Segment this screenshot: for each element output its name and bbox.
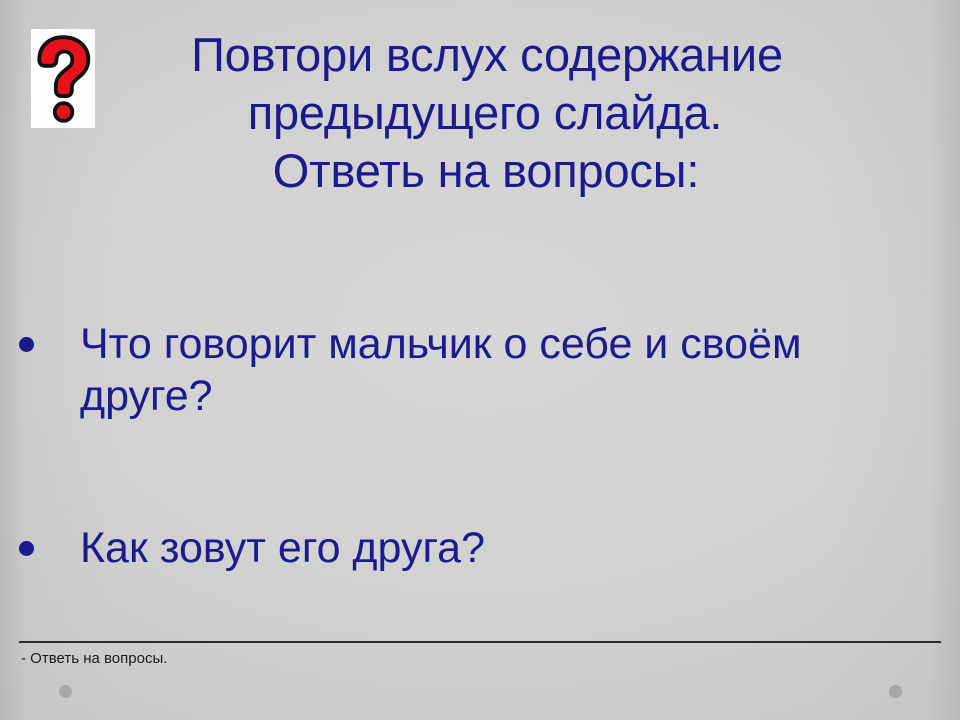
slide-title: Повтори вслух содержание предыдущего сла…	[92, 26, 882, 200]
title-line-1: Повтори вслух содержание	[92, 26, 882, 84]
bullet-dot-icon	[19, 541, 34, 556]
slide-body: Что говорит мальчик о себе и своём друге…	[0, 318, 940, 574]
title-line-2: предыдущего слайда.	[88, 84, 882, 142]
decorative-dot-right	[889, 685, 902, 698]
title-line-3: Ответь на вопросы:	[90, 142, 882, 200]
bullet-text: Что говорит мальчик о себе и своём друге…	[80, 320, 802, 420]
list-item: Как зовут его друга?	[0, 522, 940, 574]
footer-divider	[19, 641, 941, 643]
question-mark-image	[31, 29, 95, 128]
presentation-slide: Повтори вслух содержание предыдущего сла…	[0, 0, 960, 720]
question-mark-icon	[35, 35, 91, 123]
bullet-text: Как зовут его друга?	[80, 524, 485, 572]
list-item: Что говорит мальчик о себе и своём друге…	[0, 318, 940, 422]
bullet-dot-icon	[19, 337, 34, 352]
decorative-dot-left	[59, 685, 72, 698]
footer-note: - Ответь на вопросы.	[21, 649, 167, 669]
